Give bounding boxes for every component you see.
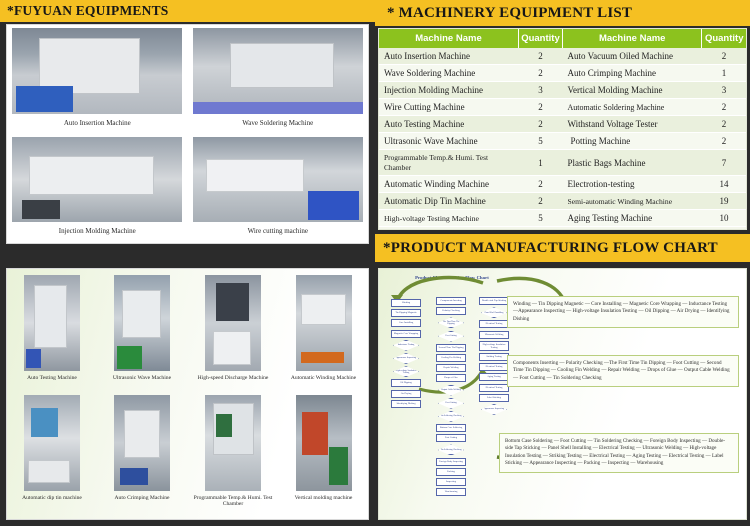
- flow-node: Cooling Fin Welding: [436, 354, 466, 362]
- flow-node: Foreign Body Inspecting: [436, 458, 466, 466]
- cell-quantity: 1: [518, 150, 562, 176]
- flow-node: Double-side Tap Sticking: [479, 297, 509, 305]
- cell-machine-name: Withstand Voltage Tester: [562, 116, 701, 133]
- cell-quantity: 5: [518, 133, 562, 150]
- fuyuan-equipments-header: *FUYUAN EQUIPMENTS: [0, 0, 375, 22]
- table-row: Auto Insertion Machine 2 Auto Vacuum Oil…: [379, 48, 746, 65]
- photo-cell-automatic-winding: Automatic Winding Machine: [279, 269, 368, 389]
- photo-cell-high-speed-discharge: High-speed Discharge Machine: [187, 269, 279, 389]
- flow-column-2: Components Inserting Polarity Checking T…: [436, 297, 466, 496]
- equipment-brochure-page: *FUYUAN EQUIPMENTS Auto Insertion Machin…: [0, 0, 750, 526]
- cell-machine-name: Electrotion-testing: [562, 176, 701, 193]
- photo-cell-ultrasonic-wave: Ultrasonic Wave Machine: [97, 269, 187, 389]
- machine-photo-icon: [296, 395, 352, 491]
- photo-cell-injection-molding: Injection Molding Machine: [7, 135, 188, 243]
- cell-machine-name: Plastic Bags Machine: [562, 150, 701, 176]
- cell-machine-name: Semi-automatic Winding Machine: [562, 193, 701, 210]
- photo-caption: Automatic Winding Machine: [291, 375, 356, 381]
- flow-node: Core Installing: [391, 319, 421, 327]
- column-header-machine-name-1: Machine Name: [379, 29, 518, 48]
- machine-photo-icon: [193, 28, 363, 114]
- cell-machine-name: High-voltage Testing Machine: [379, 210, 518, 227]
- cell-machine-name: Auto Insertion Machine: [379, 48, 518, 65]
- flow-decision: Foot Cutting: [438, 398, 464, 409]
- flow-node: Bottom Case Soldering: [436, 424, 466, 432]
- cell-machine-name: Wave Soldering Machine: [379, 65, 518, 82]
- flow-node: Foot Cutting: [436, 434, 466, 442]
- flow-node: Winding: [391, 299, 421, 307]
- column-header-quantity-1: Quantity: [518, 29, 562, 48]
- cell-quantity: 5: [518, 210, 562, 227]
- table-row: Auto Testing Machine 2 Withstand Voltage…: [379, 116, 746, 133]
- flow-node: Electrical Testing: [479, 363, 509, 371]
- cell-machine-name: Auto Vacuum Oiled Machine: [562, 48, 701, 65]
- table-row: Ultrasonic Wave Machine 5 Potting Machin…: [379, 133, 746, 150]
- photo-caption: Auto Testing Machine: [27, 375, 77, 381]
- top-photo-panel: Auto Insertion Machine Wave Soldering Ma…: [6, 24, 369, 244]
- flow-chart-panel: Product Manufacturing Flow Chart Winding…: [378, 268, 747, 520]
- flow-node: Components Inserting: [436, 297, 466, 305]
- cell-quantity: 2: [702, 133, 746, 150]
- flow-node: Electrical Testing: [479, 384, 509, 392]
- table-row: Injection Molding Machine 3 Vertical Mol…: [379, 82, 746, 99]
- flow-decision: Appearance Inspecting: [393, 353, 419, 364]
- flow-column-3: Double-side Tap Sticking Panel Shell Ins…: [479, 297, 509, 415]
- photo-cell-auto-insertion: Auto Insertion Machine: [7, 25, 188, 135]
- column-header-machine-name-2: Machine Name: [562, 29, 701, 48]
- machine-photo-icon: [24, 275, 80, 371]
- cell-quantity: 2: [518, 176, 562, 193]
- machine-photo-icon: [24, 395, 80, 491]
- cell-quantity: 2: [702, 116, 746, 133]
- flow-decision: Output Cable Welding: [438, 385, 464, 396]
- photo-cell-auto-testing: Auto Testing Machine: [7, 269, 97, 389]
- table-row: Wave Soldering Machine 2 Auto Crimping M…: [379, 65, 746, 82]
- flow-node: Oil Dipping: [391, 379, 421, 387]
- photo-cell-wire-cutting: Wire cutting machine: [188, 135, 369, 243]
- cell-machine-name: Injection Molding Machine: [379, 82, 518, 99]
- flow-node: Inspecting: [436, 478, 466, 486]
- machine-photo-icon: [114, 275, 170, 371]
- cell-quantity: 2: [518, 116, 562, 133]
- cell-quantity: 3: [518, 82, 562, 99]
- cell-quantity: 2: [518, 48, 562, 65]
- equipment-table: Machine Name Quantity Machine Name Quant…: [379, 29, 746, 227]
- photo-cell-auto-crimping: Auto Crimping Machine: [97, 389, 187, 517]
- flow-note-winding: Winding — Tin Dipping Magnetic — Core In…: [507, 296, 739, 328]
- flow-decision: Inductance Testing: [393, 340, 419, 351]
- flow-node: Label Sticking: [479, 394, 509, 402]
- cell-machine-name: Programmable Temp.& Humi. Test Chamber: [379, 150, 518, 176]
- photo-cell-temp-humi-chamber: Programmable Temp.& Humi. Test Chamber: [187, 389, 279, 517]
- right-column: * MACHINERY EQUIPMENT LIST Machine Name …: [375, 0, 750, 526]
- equipment-table-body: Auto Insertion Machine 2 Auto Vacuum Oil…: [379, 48, 746, 227]
- column-header-quantity-2: Quantity: [702, 29, 746, 48]
- photo-cell-vertical-molding: Vertical molding machine: [279, 389, 368, 517]
- cell-machine-name: Ultrasonic Wave Machine: [379, 133, 518, 150]
- cell-quantity: 1: [702, 65, 746, 82]
- flow-decision: Panel Shell Installing: [481, 307, 507, 318]
- machine-photo-icon: [205, 395, 261, 491]
- photo-caption: Injection Molding Machine: [59, 227, 136, 235]
- photo-caption: Wire cutting machine: [248, 227, 308, 235]
- photo-caption: Vertical molding machine: [295, 495, 353, 501]
- cell-quantity: 3: [702, 82, 746, 99]
- flow-node: High-voltage Insulation Testing: [479, 341, 509, 351]
- cell-machine-name: Auto Crimping Machine: [562, 65, 701, 82]
- machine-photo-icon: [193, 137, 363, 222]
- flow-note-components: Components Inserting — Polarity Checking…: [507, 355, 739, 387]
- cell-quantity: 14: [702, 176, 746, 193]
- cell-machine-name: Vertical Molding Machine: [562, 82, 701, 99]
- photo-caption: Auto Crimping Machine: [115, 495, 170, 501]
- cell-machine-name: Automatic Dip Tin Machine: [379, 193, 518, 210]
- equipment-table-wrap: Machine Name Quantity Machine Name Quant…: [378, 28, 747, 230]
- cell-quantity: 2: [518, 99, 562, 116]
- flow-node: Drops of Glue: [436, 374, 466, 382]
- flow-node: Identifying Dishing: [391, 400, 421, 408]
- flow-column-1: Winding Tin Dipping Magnetic Core Instal…: [391, 299, 421, 408]
- cell-machine-name: Potting Machine: [562, 133, 701, 150]
- flow-node: Striking Testing: [479, 353, 509, 361]
- product-flow-chart-header: *PRODUCT MANUFACTURING FLOW CHART: [375, 234, 750, 262]
- photo-caption: Ultrasonic Wave Machine: [113, 375, 171, 381]
- cell-machine-name: Wire Cutting Machine: [379, 99, 518, 116]
- flow-decision: Appearance Inspecting: [481, 404, 507, 415]
- flow-node: Packing: [436, 468, 466, 476]
- flow-note-bottom-case: Bottom Case Soldering — Foot Cutting — T…: [499, 433, 739, 473]
- photo-caption: High-speed Discharge Machine: [198, 375, 269, 381]
- table-row: Wire Cutting Machine 2 Automatic Solderi…: [379, 99, 746, 116]
- cell-quantity: 2: [702, 48, 746, 65]
- table-header-row: Machine Name Quantity Machine Name Quant…: [379, 29, 746, 48]
- machine-photo-icon: [114, 395, 170, 491]
- flow-node: Aging Testing: [479, 373, 509, 381]
- bottom-photo-grid-panel: Auto Testing Machine Ultrasonic Wave Mac…: [6, 268, 369, 520]
- cell-machine-name: Aging Testing Machine: [562, 210, 701, 227]
- left-column: *FUYUAN EQUIPMENTS Auto Insertion Machin…: [0, 0, 375, 526]
- cell-quantity: 2: [518, 65, 562, 82]
- flow-decision: Foot Cutting: [438, 331, 464, 342]
- table-row: Automatic Dip Tin Machine 2 Semi-automat…: [379, 193, 746, 210]
- flow-decision: Tin Soldering Checking: [438, 411, 464, 422]
- machine-photo-icon: [296, 275, 352, 371]
- flow-decision: Tin Soldering Checking: [438, 444, 464, 455]
- photo-cell-automatic-dip-tin: Automatic dip tin machine: [7, 389, 97, 517]
- flow-node: Air Drying: [391, 390, 421, 398]
- cell-machine-name: Automatic Winding Machine: [379, 176, 518, 193]
- photo-caption: Programmable Temp.& Humi. Test Chamber: [192, 495, 274, 508]
- machine-photo-icon: [12, 137, 182, 222]
- flow-decision: The First Time Tin Dipping: [438, 317, 464, 328]
- flow-node: Repair Welding: [436, 364, 466, 372]
- flow-node: Tin Dipping Magnetic: [391, 309, 421, 317]
- table-row: High-voltage Testing Machine 5 Aging Tes…: [379, 210, 746, 227]
- machinery-equipment-list-header: * MACHINERY EQUIPMENT LIST: [375, 0, 750, 26]
- cell-machine-name: Automatic Soldering Machine: [562, 99, 701, 116]
- cell-quantity: 10: [702, 210, 746, 227]
- cell-quantity: 2: [518, 193, 562, 210]
- table-row: Automatic Winding Machine 2 Electrotion-…: [379, 176, 746, 193]
- flow-node: Ultrasonic Welding: [479, 331, 509, 339]
- cell-quantity: 2: [702, 99, 746, 116]
- photo-caption: Automatic dip tin machine: [22, 495, 82, 501]
- photo-caption: Auto Insertion Machine: [64, 119, 131, 127]
- flow-node: Polarity Checking: [436, 307, 466, 315]
- cell-machine-name: Auto Testing Machine: [379, 116, 518, 133]
- machine-photo-icon: [12, 28, 182, 114]
- cell-quantity: 7: [702, 150, 746, 176]
- flow-node: Second Time Tin Dipping: [436, 344, 466, 352]
- photo-cell-wave-soldering: Wave Soldering Machine: [188, 25, 369, 135]
- table-row: Programmable Temp.& Humi. Test Chamber 1…: [379, 150, 746, 176]
- machine-photo-icon: [205, 275, 261, 371]
- flow-node: Magnetic Core Wrapping: [391, 330, 421, 338]
- photo-caption: Wave Soldering Machine: [242, 119, 313, 127]
- flow-node: Electrical Testing: [479, 320, 509, 328]
- flow-decision: High-voltage Insulation Testing: [393, 366, 419, 377]
- cell-quantity: 19: [702, 193, 746, 210]
- flow-node: Warehousing: [436, 488, 466, 496]
